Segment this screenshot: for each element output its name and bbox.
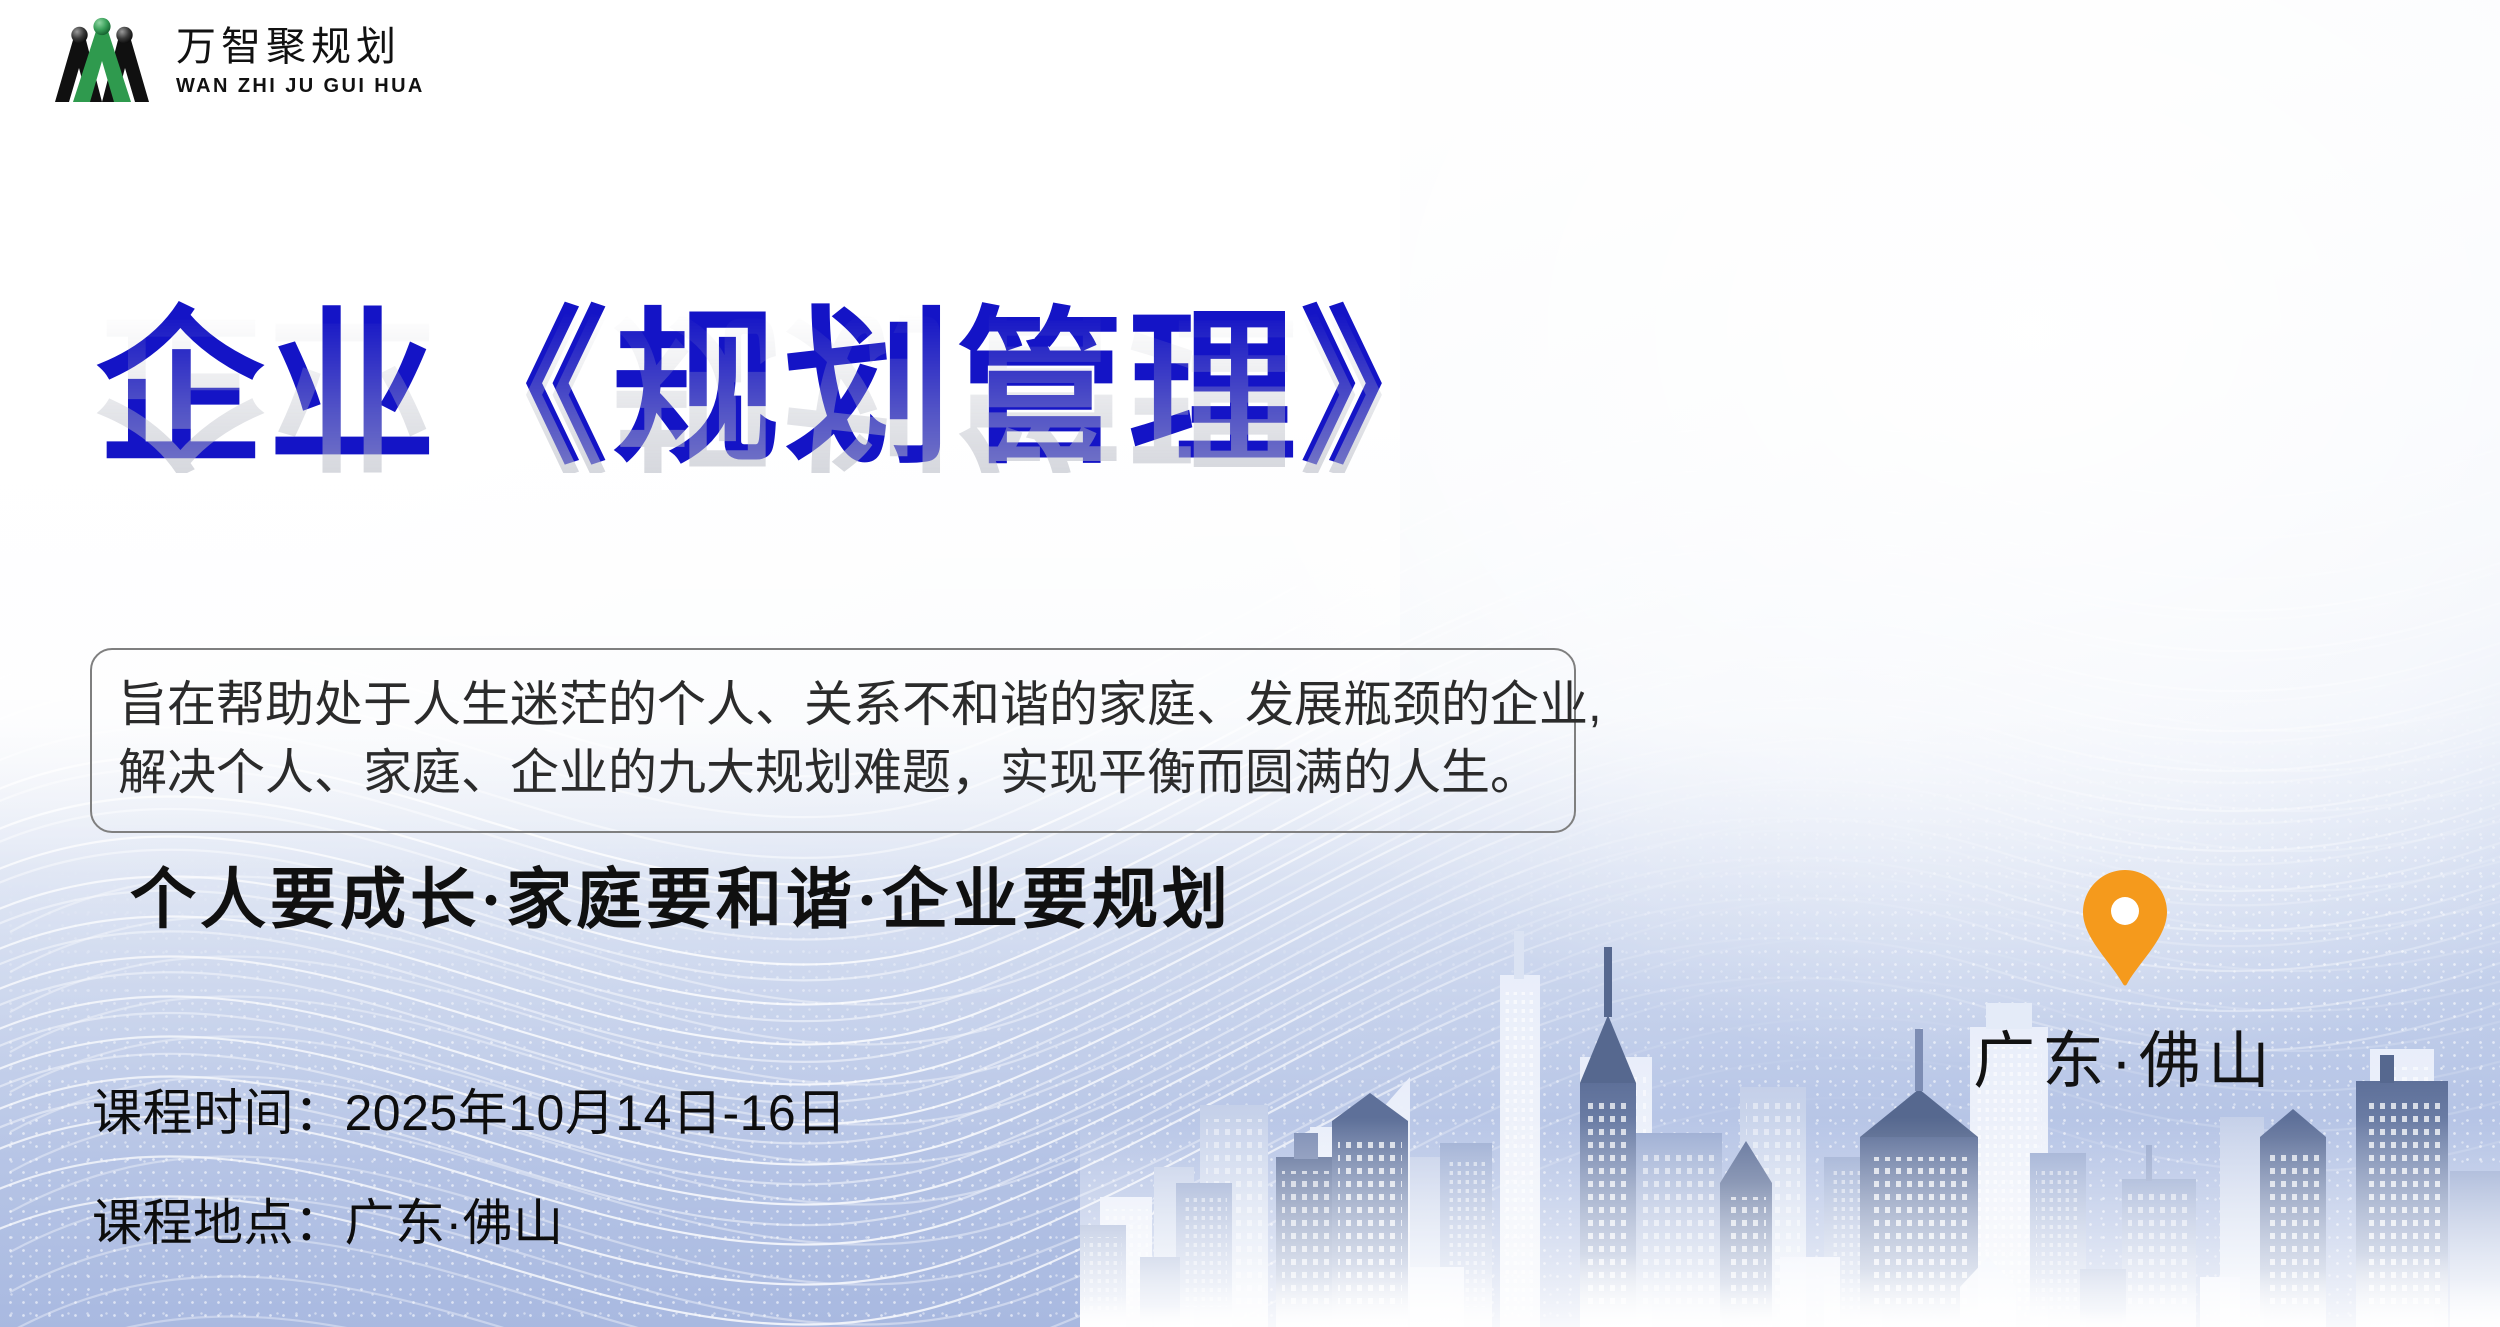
page-title-reflection: 企业《规划管理》 [96, 305, 1472, 473]
three-people-logo-icon [46, 16, 158, 106]
poster-canvas: 万智聚规划 WAN ZHI JU GUI HUA 企业《规划管理》 企业《规划管… [0, 0, 2500, 1327]
brand-logo[interactable]: 万智聚规划 WAN ZHI JU GUI HUA [46, 16, 425, 106]
map-pin-icon [1955, 868, 2295, 988]
brand-name-pinyin: WAN ZHI JU GUI HUA [176, 76, 425, 96]
course-info: 课程时间：2025年10月14日-16日 课程地点：广东·佛山 [92, 1073, 847, 1255]
brand-name-cn: 万智聚规划 [176, 27, 425, 67]
location-label: 广东·佛山 [1955, 1010, 2295, 1100]
location-block: 广东·佛山 [1955, 868, 2295, 1100]
tagline: 个人要成长·家庭要和谐·企业要规划 [130, 846, 1232, 942]
course-place-line: 课程地点：广东·佛山 [92, 1183, 847, 1255]
brand-logo-text: 万智聚规划 WAN ZHI JU GUI HUA [176, 27, 425, 96]
description-line-1: 旨在帮助处于人生迷茫的个人、关系不和谐的家庭、发展瓶颈的企业, [118, 672, 1548, 740]
course-time-line: 课程时间：2025年10月14日-16日 [92, 1073, 847, 1145]
description-box: 旨在帮助处于人生迷茫的个人、关系不和谐的家庭、发展瓶颈的企业, 解决个人、家庭、… [90, 648, 1576, 833]
hero-title-block: 企业《规划管理》 企业《规划管理》 [96, 305, 1472, 641]
description-line-2: 解决个人、家庭、企业的九大规划难题，实现平衡而圆满的人生。 [118, 740, 1548, 808]
